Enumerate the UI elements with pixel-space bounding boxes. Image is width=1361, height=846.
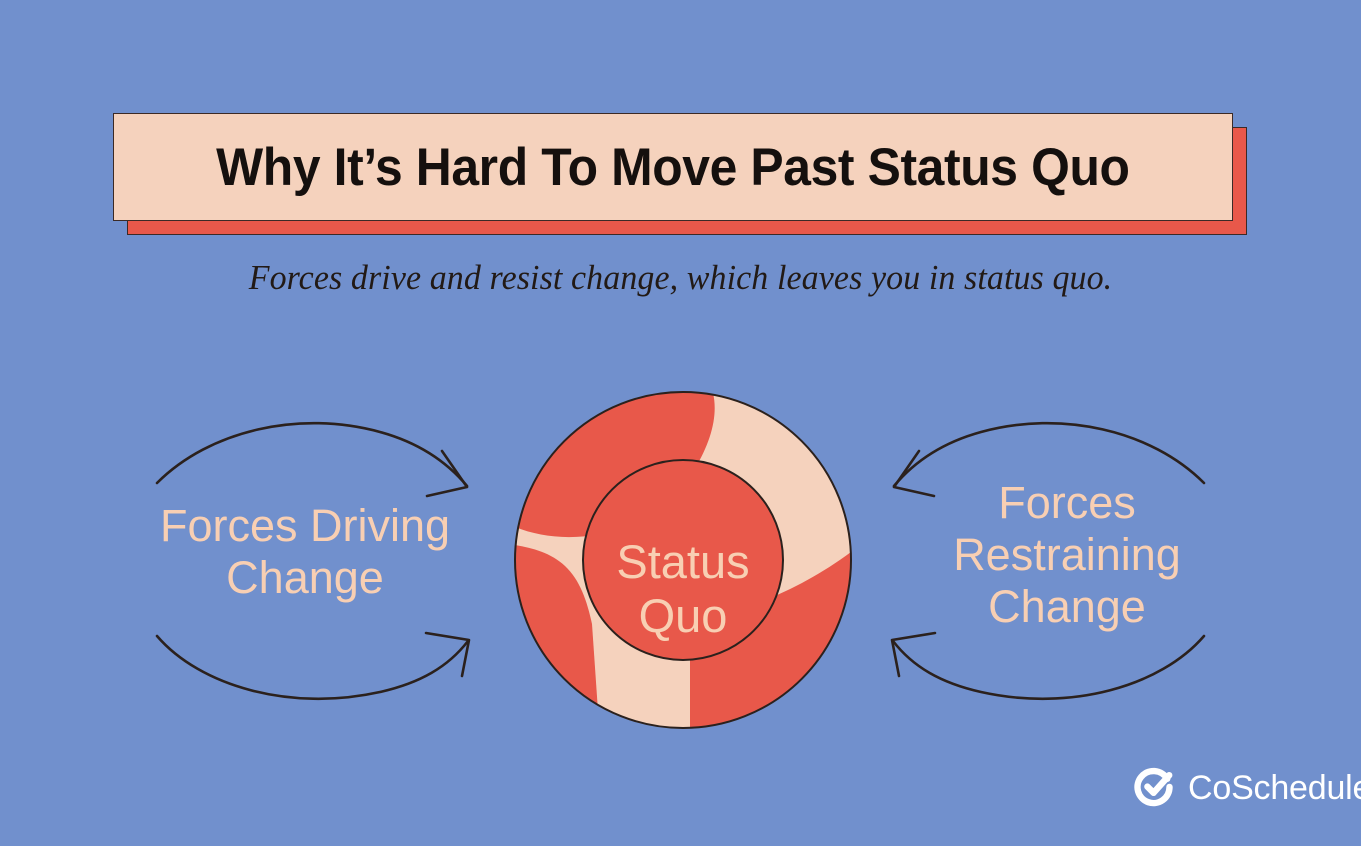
swirl-red-left-lower bbox=[500, 545, 600, 740]
swirl-red-right-lower bbox=[690, 552, 851, 740]
outer-circle-peach-regions bbox=[517, 392, 851, 600]
label-forces-driving-change: Forces Driving Change bbox=[110, 500, 500, 604]
inner-circle bbox=[583, 460, 783, 660]
title-banner: Why It’s Hard To Move Past Status Quo bbox=[113, 113, 1233, 221]
label-forces-restraining-change: Forces Restraining Change bbox=[872, 477, 1262, 634]
red-left-lower-shape bbox=[515, 540, 596, 728]
outer-circle-base bbox=[515, 392, 851, 728]
label-right-line1: Forces bbox=[872, 477, 1262, 529]
center-label-line2: Quo bbox=[639, 589, 728, 642]
subtitle: Forces drive and resist change, which le… bbox=[20, 258, 1340, 298]
swirl-red-top-left bbox=[515, 392, 715, 537]
inner-circle-group bbox=[583, 460, 783, 660]
peach-upper-right-shape bbox=[713, 392, 851, 600]
label-left-line2: Change bbox=[110, 552, 500, 604]
red-right-lower-shape bbox=[570, 548, 851, 728]
outer-circle-outline bbox=[515, 392, 851, 728]
label-left-line1: Forces Driving bbox=[110, 500, 500, 552]
arrow-right-bottom bbox=[892, 633, 1204, 699]
swirl-red-bottom bbox=[515, 560, 851, 740]
arrow-left-bottom bbox=[157, 633, 469, 699]
red-swirl-shape bbox=[515, 392, 714, 728]
check-circle-icon bbox=[1134, 765, 1176, 812]
arrow-left-top-curve bbox=[157, 423, 467, 486]
arrow-right-bottom-curve bbox=[893, 636, 1204, 699]
infographic-canvas: Why It’s Hard To Move Past Status Quo Fo… bbox=[0, 0, 1361, 846]
label-right-line3: Change bbox=[872, 581, 1262, 633]
coschedule-wordmark: CoSchedule bbox=[1188, 771, 1361, 805]
page-title: Why It’s Hard To Move Past Status Quo bbox=[216, 137, 1129, 198]
arrow-left-top bbox=[157, 423, 467, 496]
red-bottom-right-shape bbox=[515, 560, 851, 728]
title-banner-group: Why It’s Hard To Move Past Status Quo bbox=[113, 113, 1233, 221]
arrow-left-bottom-head bbox=[426, 633, 469, 676]
label-right-line2: Restraining bbox=[872, 529, 1262, 581]
coschedule-logo: CoSchedule bbox=[1134, 766, 1361, 810]
peach-left-band-shape bbox=[517, 474, 690, 539]
peach-right-band-shape bbox=[770, 420, 850, 598]
center-label-line1: Status bbox=[616, 535, 749, 588]
center-label-group: Status Quo bbox=[616, 535, 749, 642]
outer-circle-red-swirl bbox=[515, 389, 851, 728]
arrow-left-bottom-curve bbox=[157, 636, 468, 699]
arrow-left-top-head bbox=[427, 451, 467, 496]
outer-ring-group bbox=[500, 389, 851, 740]
red-tongue-shape bbox=[516, 389, 714, 533]
outer-circle-final-swirl bbox=[500, 392, 851, 740]
arrow-right-bottom-head bbox=[892, 633, 935, 676]
